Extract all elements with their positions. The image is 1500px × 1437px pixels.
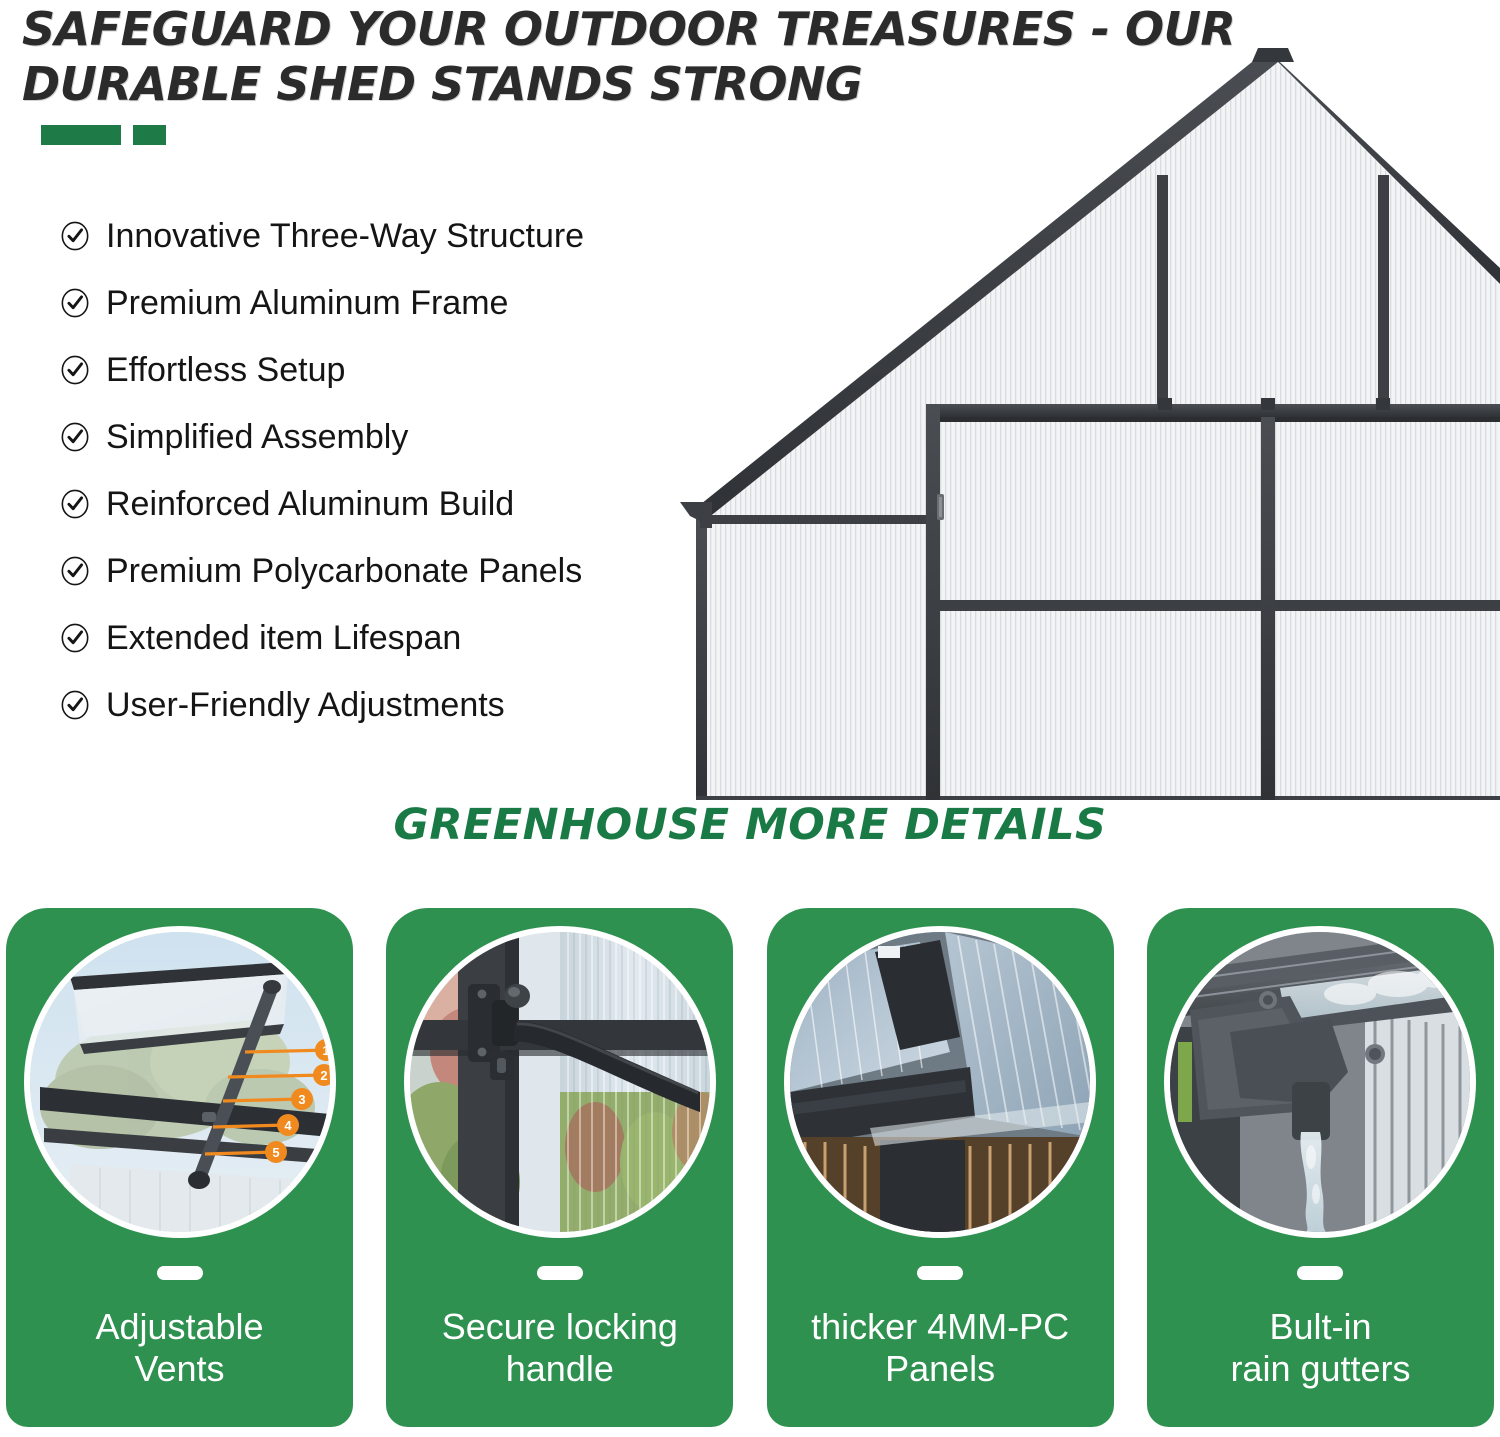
check-circle-icon — [60, 556, 90, 586]
detail-card-row: 12 345 Adjustable Vents — [0, 908, 1500, 1437]
list-item: Premium Aluminum Frame — [60, 269, 740, 336]
svg-text:2: 2 — [320, 1068, 327, 1083]
hero-section: SAFEGUARD YOUR OUTDOOR TREASURES - OUR D… — [0, 0, 1500, 795]
feature-label: Reinforced Aluminum Build — [106, 487, 514, 521]
detail-card[interactable]: thicker 4MM-PC Panels — [767, 908, 1114, 1427]
check-circle-icon — [60, 355, 90, 385]
feature-label: Innovative Three-Way Structure — [106, 219, 584, 253]
card-label: Bult-in rain gutters — [1147, 1306, 1494, 1390]
photo-ring — [1164, 926, 1476, 1238]
card-label-line2: Panels — [885, 1348, 995, 1389]
feature-label: Effortless Setup — [106, 353, 345, 387]
svg-text:4: 4 — [284, 1118, 292, 1133]
detail-card[interactable]: 12 345 Adjustable Vents — [6, 908, 353, 1427]
list-item: Simplified Assembly — [60, 403, 740, 470]
card-label: thicker 4MM-PC Panels — [767, 1306, 1114, 1390]
card-divider-pill — [537, 1266, 583, 1280]
feature-label: Premium Polycarbonate Panels — [106, 554, 582, 588]
details-section-heading: GREENHOUSE MORE DETAILS — [0, 800, 1500, 850]
card-label-line1: thicker 4MM-PC — [811, 1306, 1069, 1347]
feature-label: Simplified Assembly — [106, 420, 408, 454]
detail-card[interactable]: Secure locking handle — [386, 908, 733, 1427]
svg-text:3: 3 — [298, 1092, 305, 1107]
rain-gutter-photo — [1170, 932, 1470, 1232]
check-circle-icon — [60, 489, 90, 519]
feature-list: Innovative Three-Way Structure Premium A… — [60, 202, 740, 738]
feature-label: Premium Aluminum Frame — [106, 286, 508, 320]
card-label-line2: Vents — [134, 1348, 224, 1389]
card-divider-pill — [1297, 1266, 1343, 1280]
door-handle-photo — [410, 932, 710, 1232]
check-circle-icon — [60, 623, 90, 653]
accent-bar-group — [41, 125, 166, 145]
list-item: Extended item Lifespan — [60, 604, 740, 671]
card-label: Secure locking handle — [386, 1306, 733, 1390]
check-circle-icon — [60, 690, 90, 720]
list-item: Effortless Setup — [60, 336, 740, 403]
detail-card[interactable]: Bult-in rain gutters — [1147, 908, 1494, 1427]
feature-label: User-Friendly Adjustments — [106, 688, 505, 722]
svg-text:5: 5 — [272, 1145, 279, 1160]
list-item: Reinforced Aluminum Build — [60, 470, 740, 537]
card-divider-pill — [917, 1266, 963, 1280]
roof-vent-photo: 12 345 — [30, 932, 330, 1232]
greenhouse-gable-illustration — [660, 0, 1500, 800]
list-item: Innovative Three-Way Structure — [60, 202, 740, 269]
polycarbonate-panel-photo — [790, 932, 1090, 1232]
svg-text:1: 1 — [322, 1043, 329, 1058]
card-label-line2: rain gutters — [1230, 1348, 1410, 1389]
photo-ring — [784, 926, 1096, 1238]
card-label-line2: handle — [506, 1348, 614, 1389]
feature-label: Extended item Lifespan — [106, 621, 461, 655]
card-divider-pill — [157, 1266, 203, 1280]
check-circle-icon — [60, 422, 90, 452]
check-circle-icon — [60, 288, 90, 318]
card-label: Adjustable Vents — [6, 1306, 353, 1390]
check-circle-icon — [60, 221, 90, 251]
card-label-line1: Secure locking — [442, 1306, 678, 1347]
list-item: Premium Polycarbonate Panels — [60, 537, 740, 604]
accent-bar-short — [133, 125, 166, 145]
card-label-line1: Bult-in — [1269, 1306, 1371, 1347]
photo-ring: 12 345 — [24, 926, 336, 1238]
card-label-line1: Adjustable — [95, 1306, 263, 1347]
photo-ring — [404, 926, 716, 1238]
list-item: User-Friendly Adjustments — [60, 671, 740, 738]
accent-bar-long — [41, 125, 121, 145]
